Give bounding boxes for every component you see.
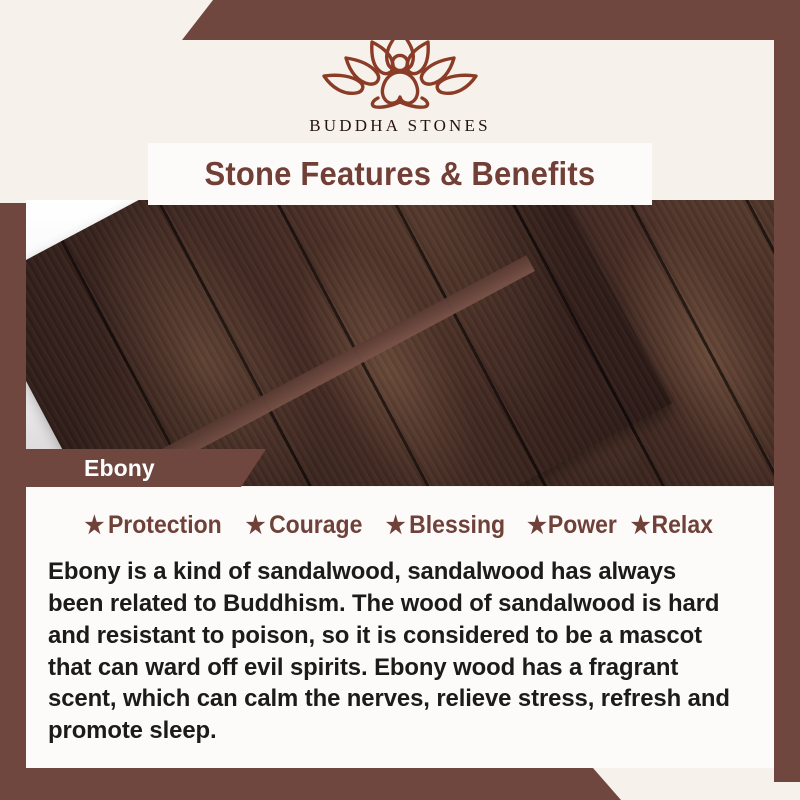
star-icon: ★ [85, 514, 105, 538]
feature-label: Relax [651, 511, 712, 540]
feature-item: ★ Power [527, 511, 622, 540]
frame-left-bar [0, 203, 26, 800]
star-icon: ★ [246, 514, 266, 538]
stone-name-text: Ebony [84, 455, 155, 482]
feature-list: ★ Protection ★ Courage ★ Blessing ★ Powe… [26, 487, 774, 540]
star-icon: ★ [527, 514, 547, 538]
feature-label: Protection [108, 511, 222, 540]
brand-name: BUDDHA STONES [0, 116, 800, 136]
infographic-card: BUDDHA STONES Stone Features & Benefits … [0, 0, 800, 800]
frame-right-bar [774, 0, 800, 782]
feature-item: ★ Relax [630, 511, 718, 540]
feature-label: Blessing [409, 511, 505, 540]
feature-item: ★ Blessing [386, 511, 517, 540]
wood-slab-front [26, 200, 672, 486]
star-icon: ★ [630, 514, 650, 538]
hero-image [26, 200, 774, 486]
title-banner: Stone Features & Benefits [148, 143, 652, 205]
stone-description: Ebony is a kind of sandalwood, sandalwoo… [48, 556, 736, 747]
feature-label: Power [548, 511, 617, 540]
page-title: Stone Features & Benefits [205, 155, 596, 193]
stone-name-label: Ebony [26, 449, 266, 487]
feature-label: Courage [269, 511, 362, 540]
star-icon: ★ [386, 514, 406, 538]
frame-bottom-bar [0, 768, 800, 800]
feature-item: ★ Courage [246, 511, 375, 540]
content-panel: ★ Protection ★ Courage ★ Blessing ★ Powe… [26, 487, 774, 768]
feature-item: ★ Protection [85, 511, 234, 540]
